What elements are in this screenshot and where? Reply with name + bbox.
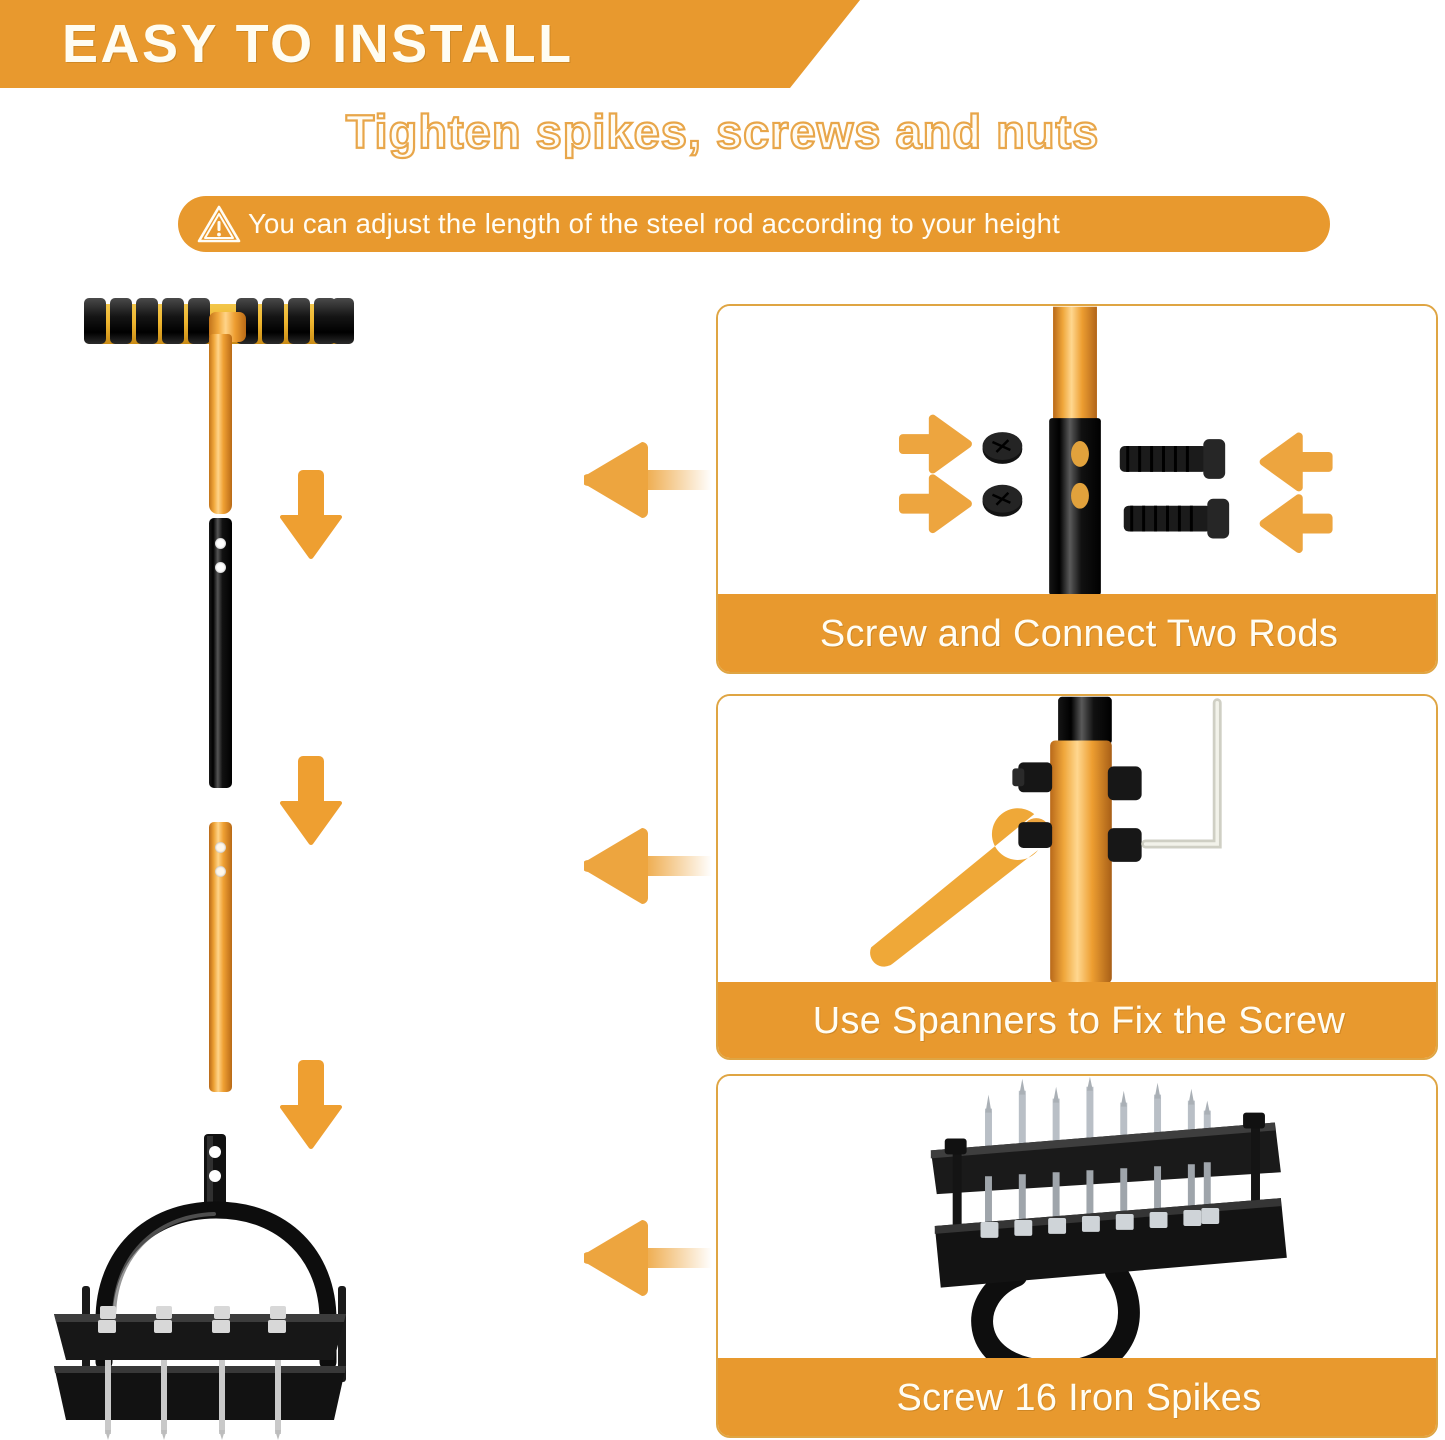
grip-segment	[332, 298, 354, 344]
instruction-panel-2: Use Spanners to Fix the Screw	[716, 694, 1438, 1060]
hex-wrench	[1146, 703, 1218, 844]
nut	[983, 485, 1023, 517]
panel-1-illustration	[718, 306, 1436, 596]
panel-arrow	[1260, 494, 1333, 553]
panel-1-caption: Screw and Connect Two Rods	[820, 613, 1338, 656]
nut	[1108, 828, 1142, 862]
rod-hole	[215, 538, 226, 549]
nut	[983, 432, 1023, 464]
grip-segment	[110, 298, 132, 344]
orange-rod-section	[209, 822, 232, 1092]
grip-segment	[162, 298, 184, 344]
t-handle-stem	[209, 334, 232, 514]
nut	[1012, 762, 1052, 792]
panel-3-caption-bar: Screw 16 Iron Spikes	[716, 1358, 1438, 1438]
warning-text: You can adjust the length of the steel r…	[248, 208, 1060, 240]
warning-banner: You can adjust the length of the steel r…	[178, 196, 1330, 252]
panel-1-caption-bar: Screw and Connect Two Rods	[716, 594, 1438, 674]
panel-2-illustration	[718, 696, 1436, 984]
panel-2-caption: Use Spanners to Fix the Screw	[813, 1000, 1345, 1043]
connector-arrow-left	[584, 1210, 712, 1306]
warning-triangle-icon	[196, 203, 242, 245]
panel-arrow	[899, 415, 972, 474]
bolt	[1124, 499, 1229, 539]
grip-segment	[188, 298, 210, 344]
rod-hole	[215, 842, 226, 853]
bolt	[1120, 439, 1225, 479]
grip-segment	[84, 298, 106, 344]
connector-arrow-left	[584, 818, 712, 914]
grip-segment	[288, 298, 310, 344]
open-spanner	[870, 808, 1038, 966]
nut	[1018, 822, 1052, 848]
panel-2-caption-bar: Use Spanners to Fix the Screw	[716, 982, 1438, 1060]
spike-head-assembly	[28, 1134, 358, 1440]
infographic-page: EASY TO INSTALL Tighten spikes, screws a…	[0, 0, 1445, 1440]
assembly-arrow-down	[274, 756, 348, 846]
rod-hole	[215, 866, 226, 877]
grip-segment	[262, 298, 284, 344]
page-title: EASY TO INSTALL	[62, 13, 574, 75]
panel-arrow	[1260, 433, 1333, 492]
header-banner: EASY TO INSTALL	[0, 0, 860, 88]
grip-segment	[136, 298, 158, 344]
rod-hole	[215, 562, 226, 573]
panel-3-caption: Screw 16 Iron Spikes	[896, 1377, 1261, 1420]
subtitle-text: Tighten spikes, screws and nuts	[0, 104, 1445, 159]
panel-arrow	[899, 474, 972, 533]
instruction-panel-3: Screw 16 Iron Spikes	[716, 1074, 1438, 1438]
nut	[1108, 766, 1142, 800]
instruction-panel-1: Screw and Connect Two Rods	[716, 304, 1438, 674]
assembly-arrow-down	[274, 470, 348, 560]
connector-arrow-left	[584, 432, 712, 528]
black-rod-section	[209, 518, 232, 788]
panel-3-illustration	[718, 1076, 1436, 1360]
